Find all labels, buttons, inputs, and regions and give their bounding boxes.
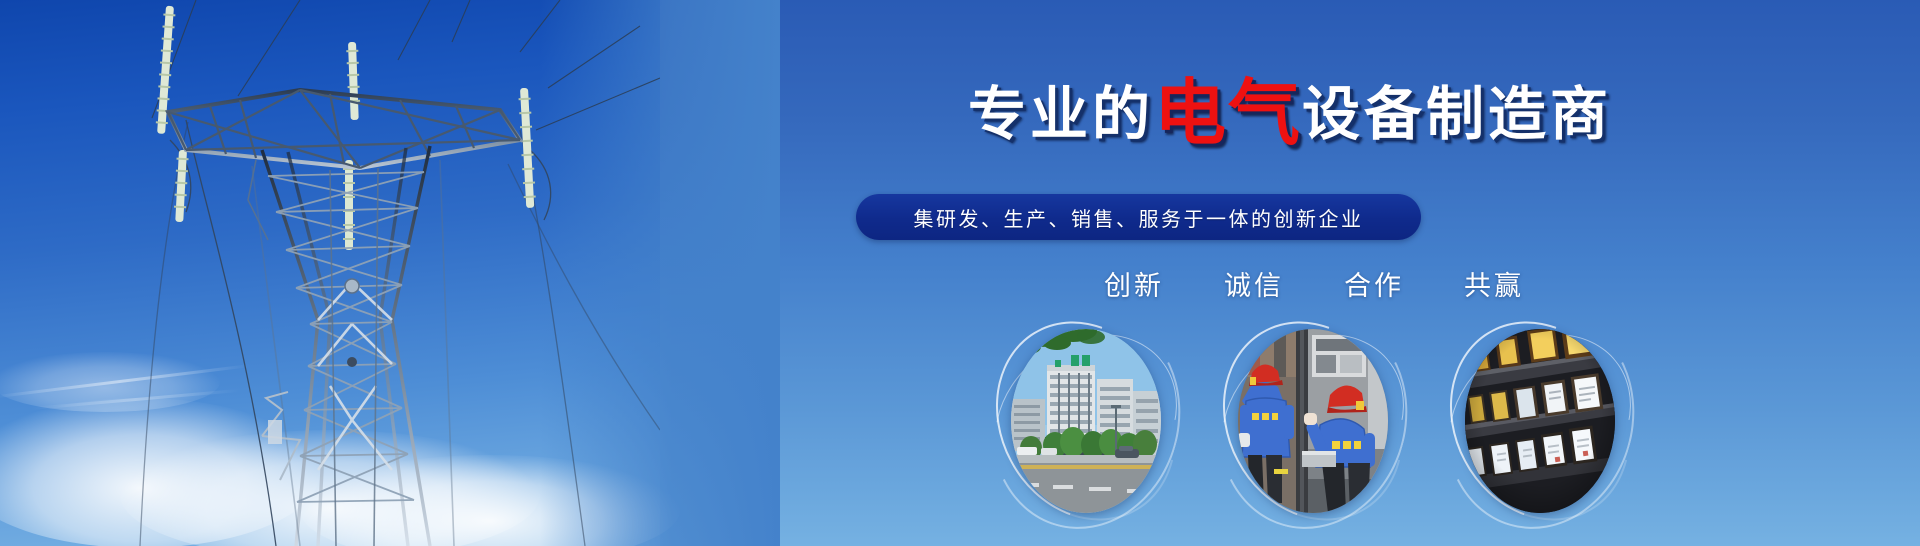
keyword-item-2: 诚信 — [1224, 264, 1284, 303]
certificates-image — [1465, 329, 1615, 513]
headline-part2: 设备制造商 — [1302, 82, 1612, 147]
workers-alt: 技术人员现场作业 — [1227, 318, 1228, 319]
keyword-list: 创新 诚信 合作 共赢 — [660, 264, 1920, 303]
keyword-item-3: 合作 — [1344, 264, 1404, 303]
office-building-alt: 公司办公大楼 — [1000, 318, 1001, 319]
office-building-image — [1011, 329, 1161, 513]
tagline-badge: 集研发、生产、销售、服务于一体的创新企业 — [856, 194, 1421, 240]
workers-image — [1238, 329, 1388, 513]
certificates-alt: 荣誉证书墙 — [1454, 318, 1455, 319]
keyword-item-4: 共赢 — [1464, 264, 1524, 303]
office-building-photo[interactable]: 公司办公大楼 — [1000, 318, 1172, 524]
promo-banner: 高压输电铁塔 — [0, 0, 1920, 546]
certificates-photo[interactable]: 荣誉证书墙 — [1454, 318, 1626, 524]
pylon-icon — [0, 0, 660, 546]
tagline-text: 集研发、生产、销售、服务于一体的创新企业 — [914, 203, 1364, 232]
banner-content: 专业的电气设备制造商 集研发、生产、销售、服务于一体的创新企业 创新 诚信 合作… — [660, 0, 1920, 546]
headline-highlight: 电气 — [1154, 74, 1302, 154]
photo-circle-list: 公司办公大楼 — [660, 318, 1920, 524]
keyword-item-1: 创新 — [1104, 264, 1164, 303]
headline-part1: 专业的 — [968, 82, 1154, 147]
page-title: 专业的电气设备制造商 — [660, 74, 1920, 146]
workers-photo[interactable]: 技术人员现场作业 — [1227, 318, 1399, 524]
